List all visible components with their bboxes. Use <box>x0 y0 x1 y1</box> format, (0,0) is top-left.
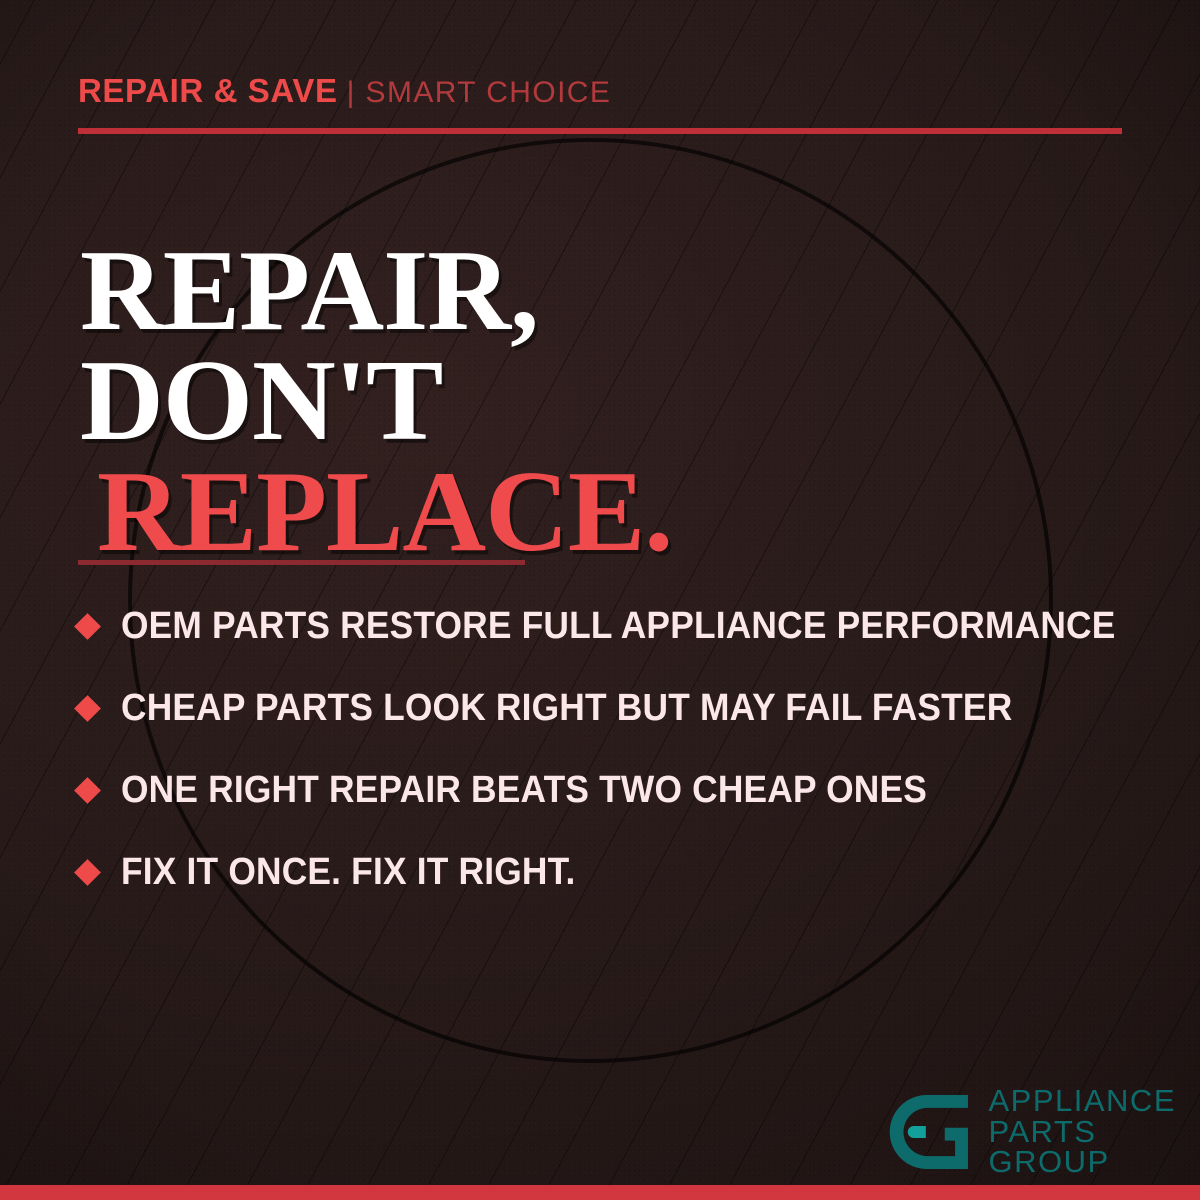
poster-content: REPAIR & SAVE| SMART CHOICE REPAIR, DON'… <box>0 0 1200 1200</box>
list-item: OEM PARTS RESTORE FULL APPLIANCE PERFORM… <box>78 585 1148 667</box>
headline-line-1: REPAIR, <box>80 236 672 347</box>
list-item-label: CHEAP PARTS LOOK RIGHT BUT MAY FAIL FAST… <box>121 687 1012 730</box>
list-item-label: ONE RIGHT REPAIR BEATS TWO CHEAP ONES <box>121 769 927 812</box>
brand-logo-line-3: GROUP <box>988 1147 1176 1178</box>
list-item: CHEAP PARTS LOOK RIGHT BUT MAY FAIL FAST… <box>78 667 1148 749</box>
poster-canvas: REPAIR & SAVE| SMART CHOICE REPAIR, DON'… <box>0 0 1200 1200</box>
headline-line-3: REPLACE. <box>80 457 672 568</box>
diamond-bullet-icon <box>74 859 101 886</box>
brand-logo-line-2: PARTS <box>988 1117 1176 1148</box>
g-monogram-icon <box>888 1089 974 1175</box>
brand-logo: APPLIANCE PARTS GROUP <box>888 1086 1176 1178</box>
top-divider-rule <box>78 128 1122 134</box>
kicker-sub-label: | SMART CHOICE <box>347 76 612 109</box>
bottom-accent-bar <box>0 1185 1200 1200</box>
list-item-label: OEM PARTS RESTORE FULL APPLIANCE PERFORM… <box>121 605 1116 648</box>
brand-logo-wordmark: APPLIANCE PARTS GROUP <box>988 1086 1176 1178</box>
list-item: ONE RIGHT REPAIR BEATS TWO CHEAP ONES <box>78 749 1148 831</box>
list-item-label: FIX IT ONCE. FIX IT RIGHT. <box>121 851 575 894</box>
kicker-main-label: REPAIR & SAVE <box>78 72 338 109</box>
brand-logo-line-1: APPLIANCE <box>988 1086 1176 1117</box>
diamond-bullet-icon <box>74 777 101 804</box>
benefit-list: OEM PARTS RESTORE FULL APPLIANCE PERFORM… <box>78 585 1148 913</box>
headline-line-2: DON'T <box>80 346 672 457</box>
diamond-bullet-icon <box>74 613 101 640</box>
list-item: FIX IT ONCE. FIX IT RIGHT. <box>78 831 1148 913</box>
kicker: REPAIR & SAVE| SMART CHOICE <box>78 74 611 108</box>
short-divider-rule <box>78 560 525 565</box>
headline: REPAIR, DON'T REPLACE. <box>80 236 672 568</box>
diamond-bullet-icon <box>74 695 101 722</box>
